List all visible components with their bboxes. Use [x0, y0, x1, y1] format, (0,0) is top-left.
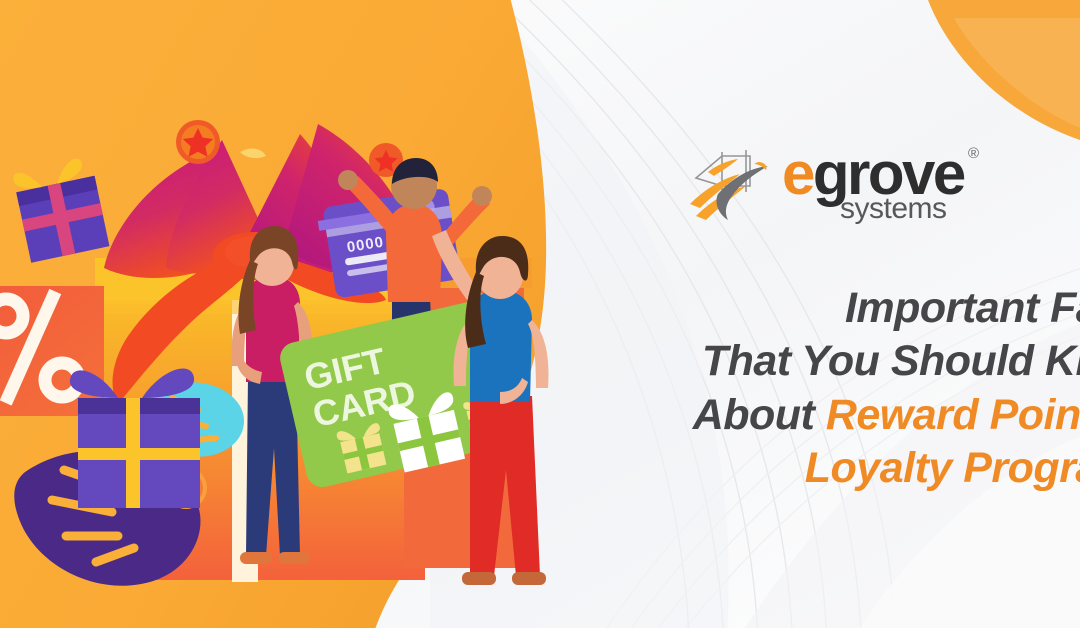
registered-trademark-icon: ® — [968, 146, 979, 161]
egrove-logo-wordmark: egrove ® systems — [782, 142, 982, 226]
headline-line-2: That You Should Know — [520, 335, 1080, 388]
promotional-banner: 0000 00 — [0, 0, 1080, 628]
headline-line-3: About Reward Points & — [520, 389, 1080, 442]
headline-line-1: Important Facts — [520, 282, 1080, 335]
headline-line-3-accent: Reward Points & — [826, 391, 1080, 439]
egrove-systems-logo: egrove ® systems — [688, 138, 988, 230]
logo-letter-e: e — [782, 140, 813, 207]
headline-line-4-accent: Loyalty Programs — [520, 442, 1080, 495]
headline-line-3-plain: About — [693, 391, 826, 439]
headline: Important Facts That You Should Know Abo… — [520, 282, 1080, 495]
discount-percent-badge — [0, 286, 104, 416]
logo-subtext-systems: systems — [840, 194, 947, 224]
small-purple-gift — [12, 155, 110, 262]
egrove-logo-mark — [688, 142, 780, 226]
